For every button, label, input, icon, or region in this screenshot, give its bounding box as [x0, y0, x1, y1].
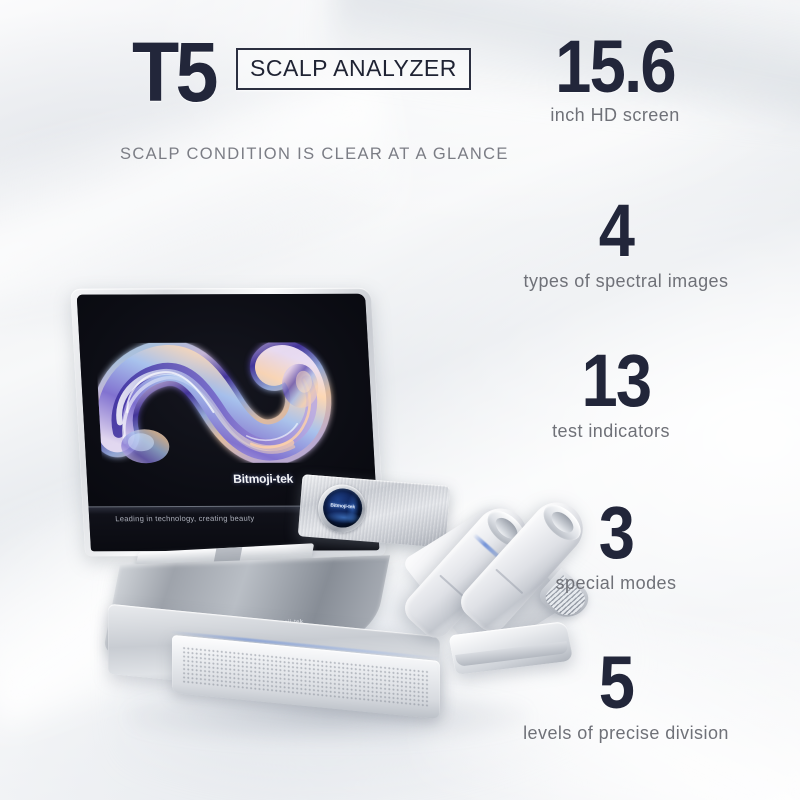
stat-item: 15.6 inch HD screen	[460, 34, 800, 126]
stat-label: special modes	[460, 573, 800, 594]
spec-stats-column: 15.6 inch HD screen 4 types of spectral …	[460, 0, 800, 800]
stat-number: 5	[480, 650, 779, 717]
stat-item: 4 types of spectral images	[460, 198, 800, 292]
stat-number: 3	[480, 500, 779, 567]
screen-strip-slogan: Leading in technology, creating beauty	[115, 514, 255, 523]
sensor-module: Bitmoji-tek	[298, 474, 450, 547]
poster-canvas: T5 SCALP ANALYZER SCALP CONDITION IS CLE…	[0, 0, 800, 800]
stat-item: 13 test indicators	[460, 348, 800, 442]
stat-item: 5 levels of precise division	[460, 650, 800, 744]
camera-lens: Bitmoji-tek	[322, 487, 364, 529]
stat-number: 15.6	[480, 34, 779, 101]
stat-number: 4	[480, 198, 779, 265]
stat-number: 13	[480, 348, 779, 415]
abstract-wave-graphic	[94, 316, 362, 485]
screen-display: Bitmoji-tek	[77, 294, 377, 507]
stat-item: 3 special modes	[460, 500, 800, 594]
stat-label: levels of precise division	[460, 723, 800, 744]
stat-label: types of spectral images	[460, 271, 800, 292]
screen-brand-logo: Bitmoji-tek	[233, 472, 294, 486]
stat-label: test indicators	[460, 421, 800, 442]
